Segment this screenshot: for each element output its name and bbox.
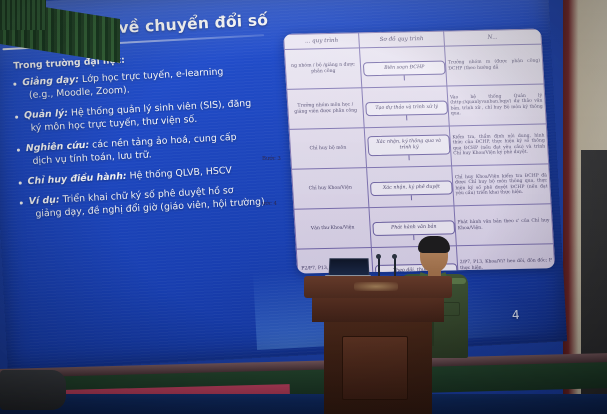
speaker-hair — [418, 236, 450, 253]
cell-diagram: Tạo dự thảo và trình xử lý — [362, 86, 449, 128]
cell-description: Kiểm tra, thẩm định nội dung, hình thức … — [449, 124, 548, 166]
bullet-key: Ví dụ: — [28, 194, 59, 207]
microphone-stem-2 — [394, 258, 396, 276]
table-row: Trưởng nhóm môn học / giảng viên được ph… — [287, 84, 547, 129]
flow-node: Xác nhận, ký phê duyệt — [370, 181, 453, 196]
process-flow-card: ... quy trình Sơ đồ quy trình N... ng nh… — [283, 29, 555, 274]
connector-line — [406, 115, 407, 120]
bullet-key: Nghiên cứu: — [26, 140, 90, 154]
connector-line — [408, 155, 409, 160]
cell-responsible: Chỉ huy bộ môn — [289, 128, 367, 170]
green-curtain-edge — [0, 0, 46, 30]
microphone-head-1 — [376, 254, 381, 259]
podium-front-panel — [342, 336, 408, 400]
flow-node: Xác nhận, ký thông qua và trình ký — [367, 135, 450, 156]
bullet-key: Quản lý: — [24, 108, 69, 121]
podium — [318, 276, 438, 414]
bullet-key: Chỉ huy điều hành: — [27, 171, 127, 187]
microphone-stem-1 — [378, 258, 380, 276]
speaker-pocket-right — [442, 302, 460, 316]
cell-description: Chỉ huy Khoa/Viện kiểm tra ĐCHP đã được … — [452, 164, 551, 206]
cell-description: Trưởng nhóm m (được phân công) ĐCHP (the… — [444, 44, 543, 86]
cell-diagram: Biên soạn ĐCHP — [360, 46, 447, 88]
column-header-responsible: ... quy trình — [284, 33, 360, 50]
flow-node: Biên soạn ĐCHP — [363, 61, 446, 76]
cell-diagram: Xác nhận, ký phê duyệt — [367, 166, 454, 208]
table-row: ng nhóm / bộ /giảng n được phân công Biê… — [284, 44, 544, 89]
cell-diagram: Xác nhận, ký thông qua và trình ký — [364, 126, 451, 168]
cell-responsible: Trưởng nhóm môn học / giảng viên được ph… — [287, 88, 365, 130]
connector-line — [403, 75, 404, 80]
step-label-3: Bước 3 — [262, 156, 281, 162]
cell-responsible: ng nhóm / bộ /giảng n được phân công — [284, 48, 362, 90]
step-label-4: ước 4 — [262, 201, 277, 207]
photo-scene: 1. Giới thiệu về chuyển đổi số Trong trư… — [0, 0, 607, 414]
bullet-key: Giảng dạy: — [22, 74, 79, 88]
process-flow-table: ... quy trình Sơ đồ quy trình N... ng nh… — [283, 29, 555, 274]
podium-mid — [312, 296, 444, 322]
flow-node: Tạo dự thảo và trình xử lý — [365, 101, 448, 116]
flow-node: Phát hành văn bản — [372, 220, 455, 235]
slide-page-number: 4 — [512, 308, 520, 322]
loudspeaker — [0, 370, 66, 410]
slide-bullet-list: Giảng dạy: Lớp học trực tuyến, e-learnin… — [10, 62, 307, 222]
cell-responsible: Chỉ huy Khoa/Viện — [292, 168, 370, 210]
stage-floor — [0, 394, 607, 414]
table-row: Chỉ huy Khoa/Viện Xác nhận, ký phê duyệt… — [292, 164, 552, 209]
cell-description: Vào hệ thống Quản lý (http://quanlyvanba… — [447, 84, 546, 126]
microphone-head-2 — [392, 254, 397, 259]
cell-responsible: Văn thư Khoa/Viện — [294, 208, 372, 250]
connector-line — [410, 195, 411, 200]
speaker-shoulder-right — [450, 278, 466, 284]
podium-emblem — [354, 282, 398, 291]
table-row: Chỉ huy bộ môn Xác nhận, ký thông qua và… — [289, 124, 549, 169]
bullet-text: Hệ thống QLVB, HSCV — [129, 165, 232, 182]
